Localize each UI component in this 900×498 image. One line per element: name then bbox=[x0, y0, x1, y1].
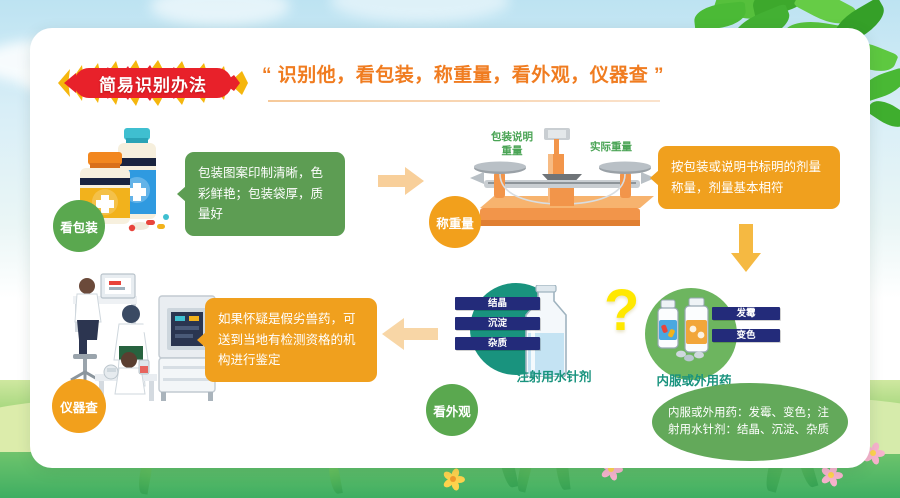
appearance-note: 内服或外用药：发霉、变色；注射用水针剂：结晶、沉淀、杂质 bbox=[652, 383, 848, 461]
step-badge-lab-label: 仪器查 bbox=[60, 397, 98, 416]
section-badge-burst: 简易识别办法 bbox=[58, 57, 248, 109]
scale-label-package-weight-line2: 重量 bbox=[502, 145, 523, 157]
step-badge-look-label: 看外观 bbox=[433, 401, 471, 420]
step-badge-weigh-label: 称重量 bbox=[436, 213, 474, 232]
step-badge-weigh[interactable]: 称重量 bbox=[429, 196, 481, 248]
tag-mold: 发霉 bbox=[712, 307, 780, 320]
scale-label-package-weight-line1: 包装说明 bbox=[491, 131, 533, 143]
cloud-icon bbox=[330, 0, 510, 22]
callout-dose: 按包装或说明书标明的剂量称量，剂量基本相符 bbox=[658, 146, 840, 209]
caption-injection: 注射用水针剂 bbox=[492, 366, 616, 385]
callout-lab: 如果怀疑是假劣兽药，可送到当地有检测资格的机构进行鉴定 bbox=[205, 298, 377, 382]
callout-package: 包装图案印制清晰，色彩鲜艳；包装袋厚，质量好 bbox=[185, 152, 345, 236]
step-badge-package-label: 看包装 bbox=[60, 217, 98, 236]
scale-weight-block bbox=[550, 188, 574, 206]
step-badge-package[interactable]: 看包装 bbox=[53, 200, 105, 252]
cloud-icon bbox=[150, 0, 290, 26]
page-title: “ 识别他，看包装，称重量，看外观，仪器查 ” bbox=[262, 60, 682, 87]
flower-icon bbox=[442, 468, 464, 490]
step-badge-look[interactable]: 看外观 bbox=[426, 384, 478, 436]
title-underline bbox=[268, 100, 660, 102]
step-badge-lab[interactable]: 仪器查 bbox=[52, 379, 106, 433]
arrow-down-weigh-to-look bbox=[731, 224, 761, 272]
question-mark-icon: ? bbox=[604, 282, 639, 340]
arrow-right-package-to-weigh bbox=[378, 167, 424, 195]
scale-label-actual-weight: 实际重量 bbox=[578, 140, 644, 154]
balance-scale-illustration: 包装说明 重量 实际重量 bbox=[470, 128, 655, 233]
section-badge-label: 简易识别办法 bbox=[58, 57, 248, 109]
tag-precipitate: 沉淀 bbox=[455, 317, 540, 330]
arrow-left-look-to-lab bbox=[382, 318, 438, 350]
tag-discoloration: 变色 bbox=[712, 329, 780, 342]
tag-impurity: 杂质 bbox=[455, 337, 540, 350]
scale-label-package-weight: 包装说明 重量 bbox=[476, 130, 548, 158]
tag-crystallization: 结晶 bbox=[455, 297, 540, 310]
